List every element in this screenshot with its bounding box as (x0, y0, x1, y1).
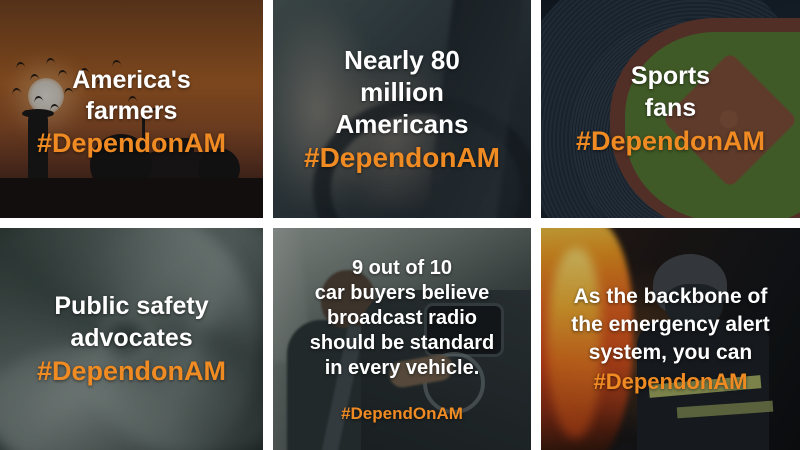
card-sports-fans[interactable]: Sports fans #DependonAM (541, 0, 800, 218)
card-car-buyers[interactable]: 9 out of 10 car buyers believe broadcast… (273, 228, 531, 450)
gutter-horizontal (273, 218, 531, 228)
gutter-horizontal (0, 218, 263, 228)
card-farmers[interactable]: America's farmers #DependonAM (0, 0, 263, 218)
gutter-vertical (263, 228, 273, 450)
card-public-safety[interactable]: Public safety advocates #DependonAM (0, 228, 263, 450)
caption-line: Americans (279, 108, 525, 140)
caption-line: farmers (6, 96, 257, 127)
hashtag-label: #DependOnAM (279, 403, 525, 425)
caption-line: Sports (547, 60, 794, 92)
caption-line: As the backbone of (547, 283, 794, 311)
image-grid: America's farmers #DependonAM Nearly 80 … (0, 0, 800, 450)
hashtag-label: #DependonAM (6, 354, 257, 388)
hashtag-label: #DependonAM (547, 124, 794, 158)
caption-line: car buyers believe (279, 281, 525, 306)
caption-line: in every vehicle. (279, 356, 525, 381)
caption-line: million (279, 76, 525, 108)
hashtag-label: #DependonAM (279, 140, 525, 175)
caption-line: Public safety (6, 290, 257, 322)
public-safety-caption: Public safety advocates #DependonAM (0, 290, 263, 388)
caption-line: 9 out of 10 (279, 256, 525, 281)
sports-fans-caption: Sports fans #DependonAM (541, 60, 800, 158)
gutter-vertical (531, 0, 541, 218)
caption-line: broadcast radio (279, 306, 525, 331)
gutter-horizontal (541, 218, 800, 228)
gutter-cross (263, 218, 273, 228)
gutter-vertical (531, 228, 541, 450)
caption-line: advocates (6, 322, 257, 354)
card-80-million[interactable]: Nearly 80 million Americans #DependonAM (273, 0, 531, 218)
caption-line: system, you can (547, 339, 794, 367)
farmers-caption: America's farmers #DependonAM (0, 59, 263, 160)
hashtag-label: #DependonAM (6, 127, 257, 160)
hashtag-label: #DependonAM (547, 367, 794, 396)
caption-line: the emergency alert (547, 311, 794, 339)
emergency-alert-caption: As the backbone of the emergency alert s… (541, 283, 800, 396)
caption-line: should be standard (279, 331, 525, 356)
car-buyers-caption: 9 out of 10 car buyers believe broadcast… (273, 254, 531, 425)
card-emergency-alert[interactable]: As the backbone of the emergency alert s… (541, 228, 800, 450)
caption-line: fans (547, 92, 794, 124)
caption-line: Nearly 80 (279, 44, 525, 76)
gutter-vertical (263, 0, 273, 218)
caption-line: America's (6, 65, 257, 96)
eighty-million-caption: Nearly 80 million Americans #DependonAM (273, 44, 531, 175)
gutter-cross (531, 218, 541, 228)
